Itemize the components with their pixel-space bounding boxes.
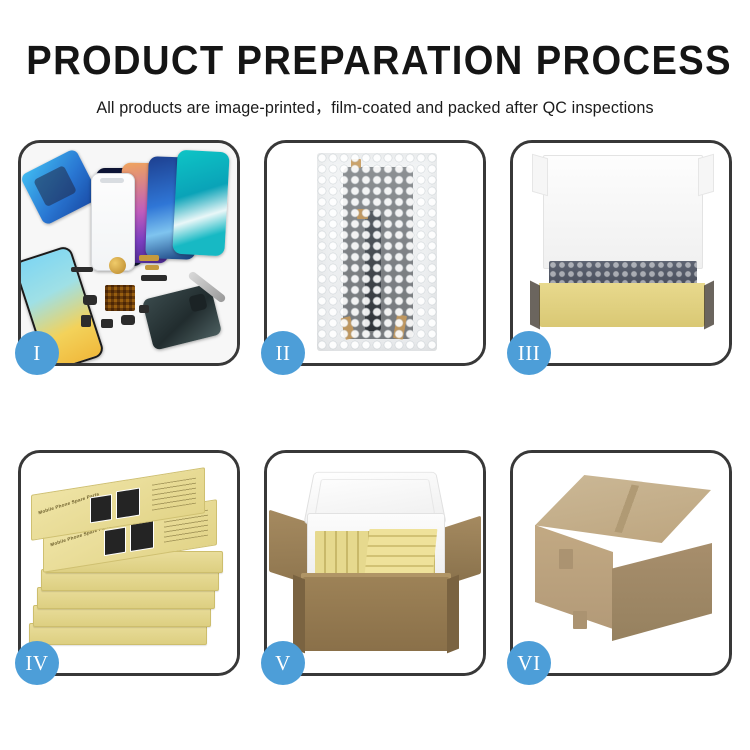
sealed-carton-right-face [612, 543, 712, 641]
step-badge-1: I [15, 331, 59, 375]
taptic-engine-part [109, 257, 126, 274]
screen-protector-film [21, 148, 100, 226]
box-spec-lines-back [152, 478, 196, 511]
box-stack: Mobile Phone Spare Parts Mobile Phone Sp… [27, 467, 233, 663]
box-screen-image-3 [90, 494, 112, 523]
step-panel-1[interactable]: I [18, 140, 240, 366]
steps-grid: I II I [18, 140, 732, 676]
header: PRODUCT PREPARATION PROCESS All products… [0, 0, 750, 118]
step-badge-3: III [507, 331, 551, 375]
phone-1 [172, 150, 229, 257]
button-part [139, 305, 149, 313]
yellow-box-base [539, 283, 705, 327]
flex-cable-2 [141, 275, 167, 281]
box-screen-image-1 [104, 527, 126, 556]
carton-tab-lower [573, 611, 587, 629]
step-badge-2: II [261, 331, 305, 375]
step-panel-3[interactable]: III [510, 140, 732, 366]
step-image-1 [21, 143, 237, 363]
step-panel-5[interactable]: V [264, 450, 486, 676]
connector-1 [83, 295, 97, 305]
carton-body [303, 577, 449, 651]
connector-3 [101, 319, 113, 328]
step-panel-6[interactable]: VI [510, 450, 732, 676]
step-badge-4: IV [15, 641, 59, 685]
step-panel-4[interactable]: Mobile Phone Spare Parts Mobile Phone Sp… [18, 450, 240, 676]
step-badge-5: V [261, 641, 305, 685]
connector-2 [81, 315, 91, 327]
gold-contact-1 [139, 255, 159, 261]
step-image-4: Mobile Phone Spare Parts Mobile Phone Sp… [21, 453, 237, 673]
product-preparation-infographic: PRODUCT PREPARATION PROCESS All products… [0, 0, 750, 750]
page-title: PRODUCT PREPARATION PROCESS [26, 40, 724, 81]
carton-tab-upper [559, 549, 573, 569]
screws-grid [105, 285, 135, 311]
gold-contact-2 [145, 265, 159, 270]
flex-cable-1 [71, 267, 93, 272]
white-foam-lid [543, 155, 703, 269]
speaker-part [121, 315, 135, 325]
bubble-texture [317, 153, 437, 351]
step-panel-2[interactable]: II [264, 140, 486, 366]
box-screen-image-4 [116, 488, 140, 520]
step-badge-6: VI [507, 641, 551, 685]
step-image-5 [267, 453, 483, 673]
step-image-3 [513, 143, 729, 363]
tempered-glass [91, 173, 135, 271]
bubble-wrap-bag [317, 153, 437, 351]
box-screen-image-2 [130, 520, 154, 552]
packed-yellow-boxes-right [365, 529, 438, 575]
step-image-6 [513, 453, 729, 673]
page-subtitle: All products are image-printed，film-coat… [8, 94, 743, 118]
step-image-2 [267, 143, 483, 363]
